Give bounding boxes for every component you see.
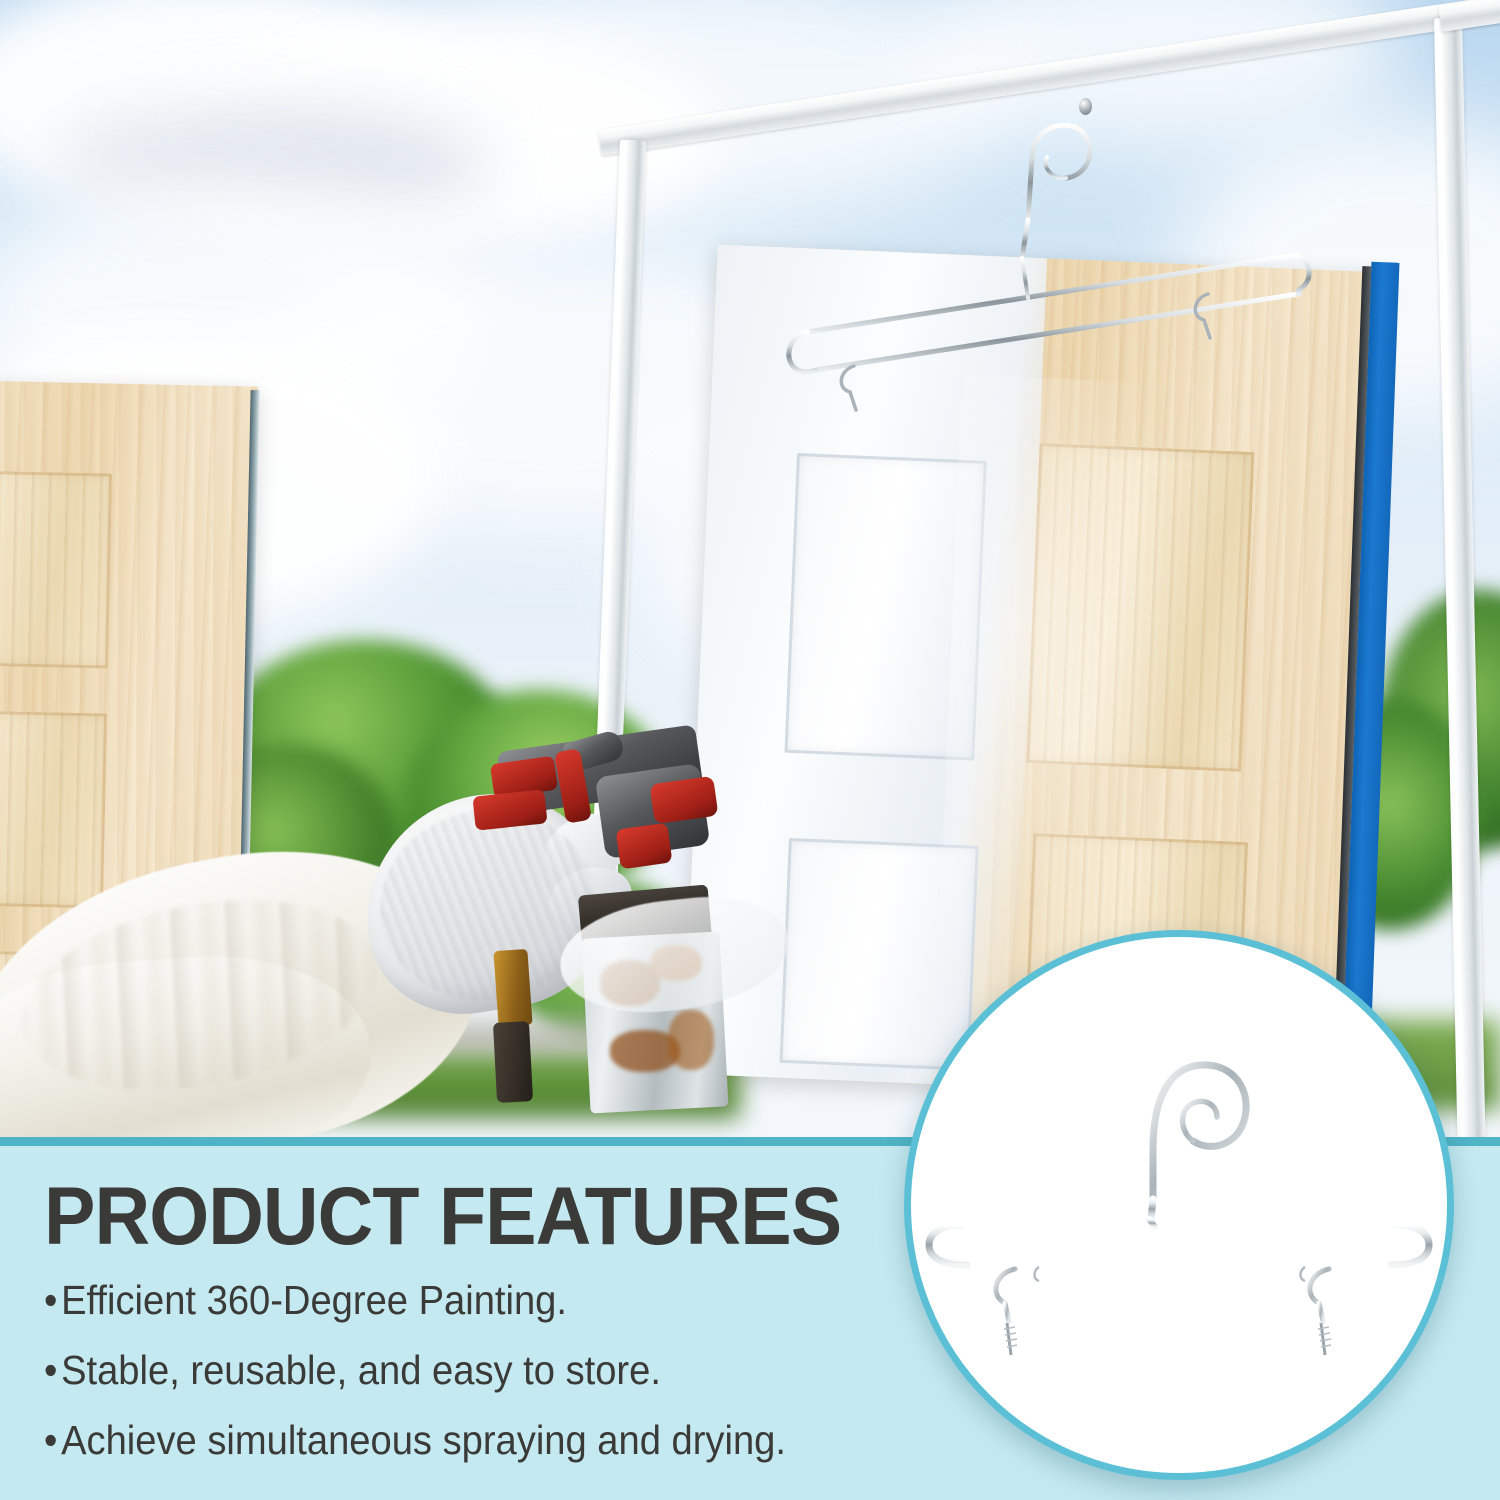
spray-gun-hose-fitting	[493, 949, 532, 1027]
bullet-marker-icon: •	[44, 1278, 57, 1322]
page-title: PRODUCT FEATURES	[44, 1176, 841, 1258]
paint-residue	[668, 1010, 714, 1070]
feature-bullet-text: Stable, reusable, and easy to store.	[61, 1347, 661, 1393]
rail-screw-eye	[1079, 98, 1092, 115]
pants-hanger-on-rack	[770, 70, 1330, 430]
bullet-marker-icon: •	[44, 1418, 57, 1462]
drying-rack-rail-segment	[1438, 0, 1500, 32]
door-panel	[0, 708, 107, 908]
overspray-sheen	[936, 375, 1183, 1024]
door-panel	[0, 468, 112, 668]
feature-bullet-2: •Stable, reusable, and easy to store.	[44, 1348, 661, 1392]
spray-gun-fluid-knob	[615, 823, 672, 870]
pants-hanger-product-image	[911, 937, 1447, 1473]
product-feature-graphic: PRODUCT FEATURES •Efficient 360-Degree P…	[0, 0, 1500, 1500]
feature-bullet-3: •Achieve simultaneous spraying and dryin…	[44, 1418, 786, 1462]
feature-bullet-text: Achieve simultaneous spraying and drying…	[61, 1417, 786, 1463]
feature-bullet-text: Efficient 360-Degree Painting.	[61, 1277, 567, 1323]
product-inset-circle	[904, 930, 1454, 1480]
bullet-marker-icon: •	[44, 1348, 57, 1392]
spray-gun-hose	[493, 1021, 533, 1103]
feature-bullet-1: •Efficient 360-Degree Painting.	[44, 1278, 567, 1322]
